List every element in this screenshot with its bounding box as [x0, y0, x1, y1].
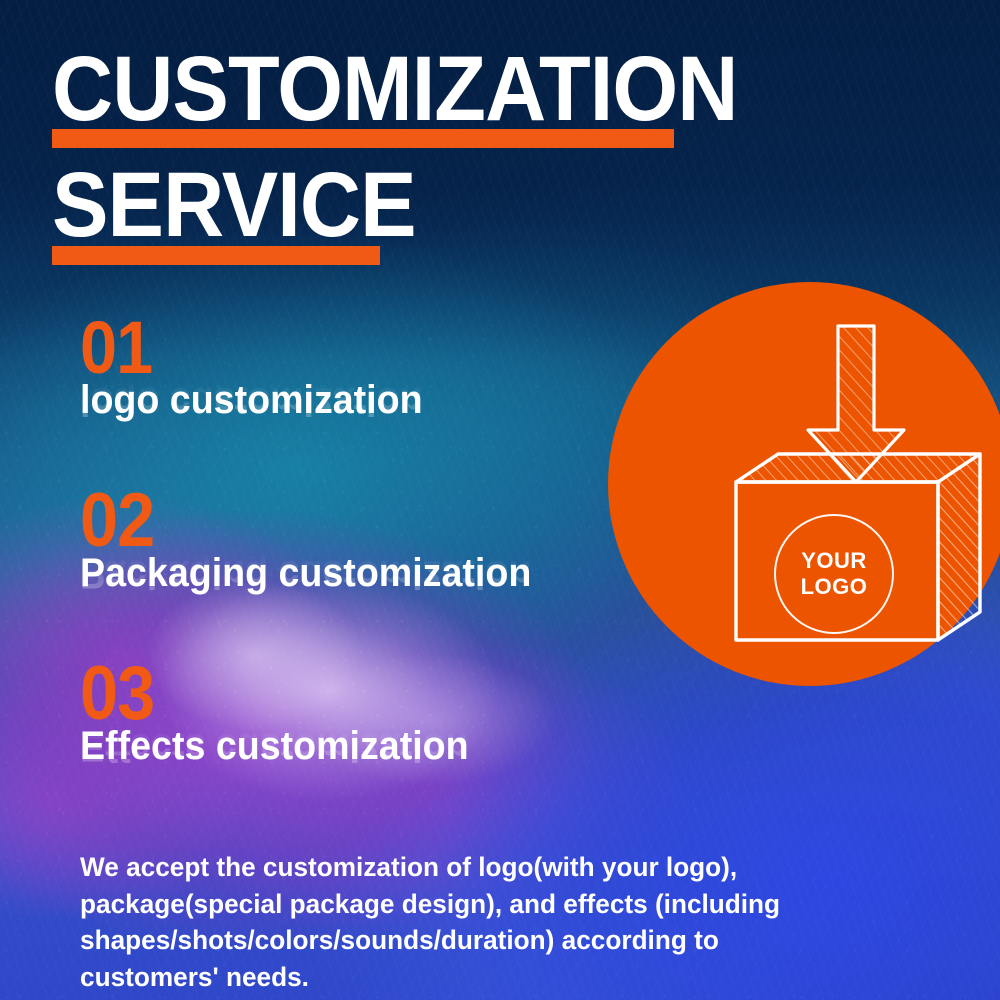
feature-item-03: 03 Effects customization Effects customi…	[80, 661, 640, 808]
box-illustration: YOUR LOGO	[608, 282, 1000, 686]
headline-block: CUSTOMIZATION SERVICE	[52, 46, 772, 265]
your-logo-badge: YOUR LOGO	[774, 514, 894, 634]
feature-title: logo customization	[80, 380, 423, 422]
feature-title: Packaging customization	[80, 553, 531, 595]
feature-title: Effects customization	[80, 726, 469, 768]
feature-title-wrap: Effects customization Effects customizat…	[80, 726, 640, 808]
badge-line-1: YOUR	[801, 548, 867, 574]
feature-number: 03	[80, 661, 584, 726]
badge-line-2: LOGO	[801, 574, 868, 600]
box-side-face	[938, 454, 980, 640]
headline-line-1: CUSTOMIZATION	[52, 46, 714, 133]
feature-item-02: 02 Packaging customization Packaging cus…	[80, 488, 640, 635]
feature-title-wrap: Packaging customization Packaging custom…	[80, 553, 640, 635]
feature-list: 01 logo customization logo customization…	[80, 316, 640, 834]
feature-number: 02	[80, 488, 584, 553]
headline-row-1: CUSTOMIZATION	[52, 46, 772, 148]
body-paragraph: We accept the customization of logo(with…	[80, 849, 827, 996]
feature-title-wrap: logo customization logo customization	[80, 380, 640, 462]
promotional-poster: CUSTOMIZATION SERVICE 01 logo customizat…	[0, 0, 1000, 1000]
feature-number: 01	[80, 316, 584, 380]
feature-item-01: 01 logo customization logo customization	[80, 316, 640, 462]
headline-line-2: SERVICE	[52, 162, 714, 249]
headline-row-2: SERVICE	[52, 162, 772, 264]
